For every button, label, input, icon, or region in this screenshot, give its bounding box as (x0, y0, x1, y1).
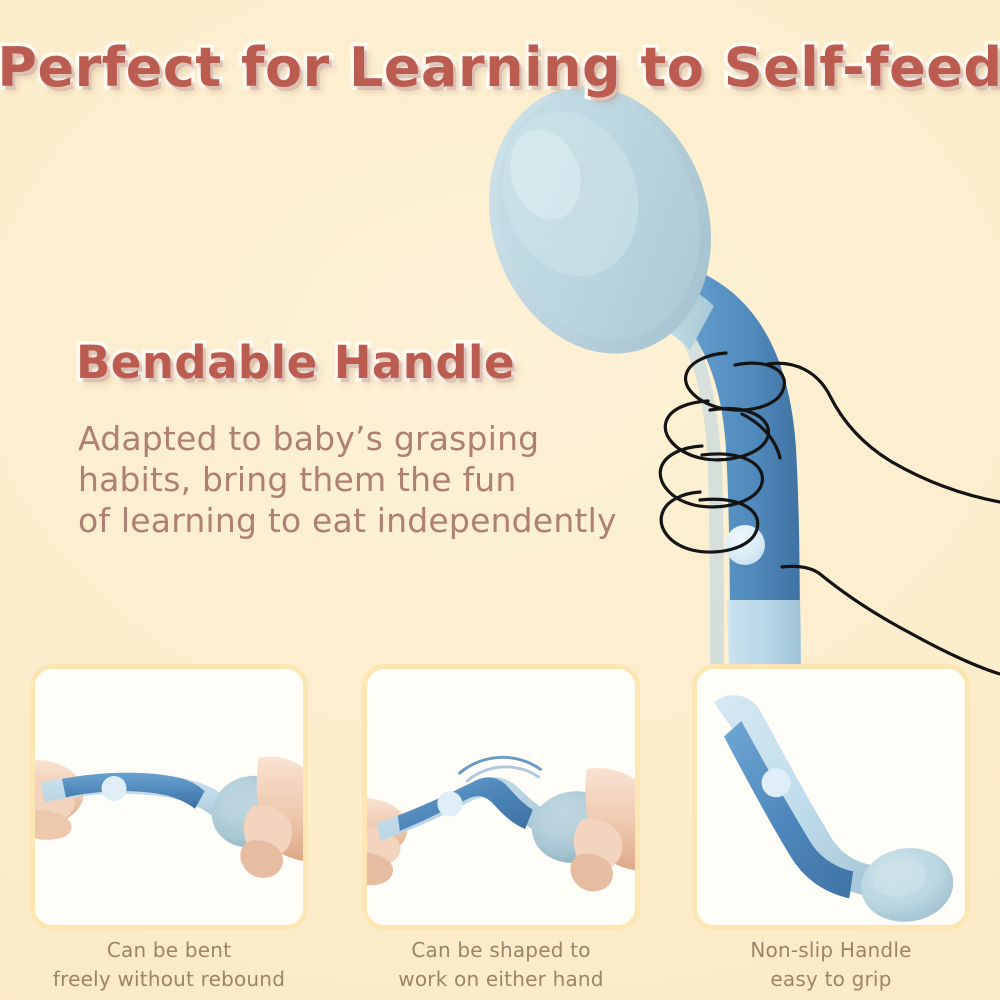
card-art-nonslip (697, 669, 965, 925)
section-body-text: Adapted to baby’s grasping habits, bring… (78, 418, 678, 541)
product-infographic: Perfect for Learning to Self-feed Bendab… (0, 0, 1000, 1000)
feature-card: Non-slip Handle easy to grip (692, 664, 970, 930)
card-frame (30, 664, 308, 930)
spoon (714, 695, 958, 925)
right-hand (240, 757, 303, 878)
right-hand (570, 768, 635, 891)
card-art-shapeable (367, 669, 635, 925)
left-hand (35, 760, 84, 840)
page-title: Perfect for Learning to Self-feed (0, 36, 1000, 99)
feature-card: Can be shaped to work on either hand (362, 664, 640, 930)
grip-dot (725, 525, 765, 565)
card-art-bendable (35, 669, 303, 925)
spoon-bowl (455, 57, 744, 382)
section-heading: Bendable Handle (76, 336, 515, 389)
feature-card: Can be bent freely without rebound (30, 664, 308, 930)
motion-arc-icon (460, 757, 541, 780)
card-caption: Can be bent freely without rebound (30, 936, 308, 994)
card-caption: Can be shaped to work on either hand (362, 936, 640, 994)
card-caption: Non-slip Handle easy to grip (692, 936, 970, 994)
left-hand (367, 798, 408, 885)
hand-line-art (660, 353, 1000, 674)
feature-card-row: Can be bent freely without rebound (0, 664, 1000, 1000)
card-frame (692, 664, 970, 930)
card-frame (362, 664, 640, 930)
spoon-neck (606, 272, 714, 350)
